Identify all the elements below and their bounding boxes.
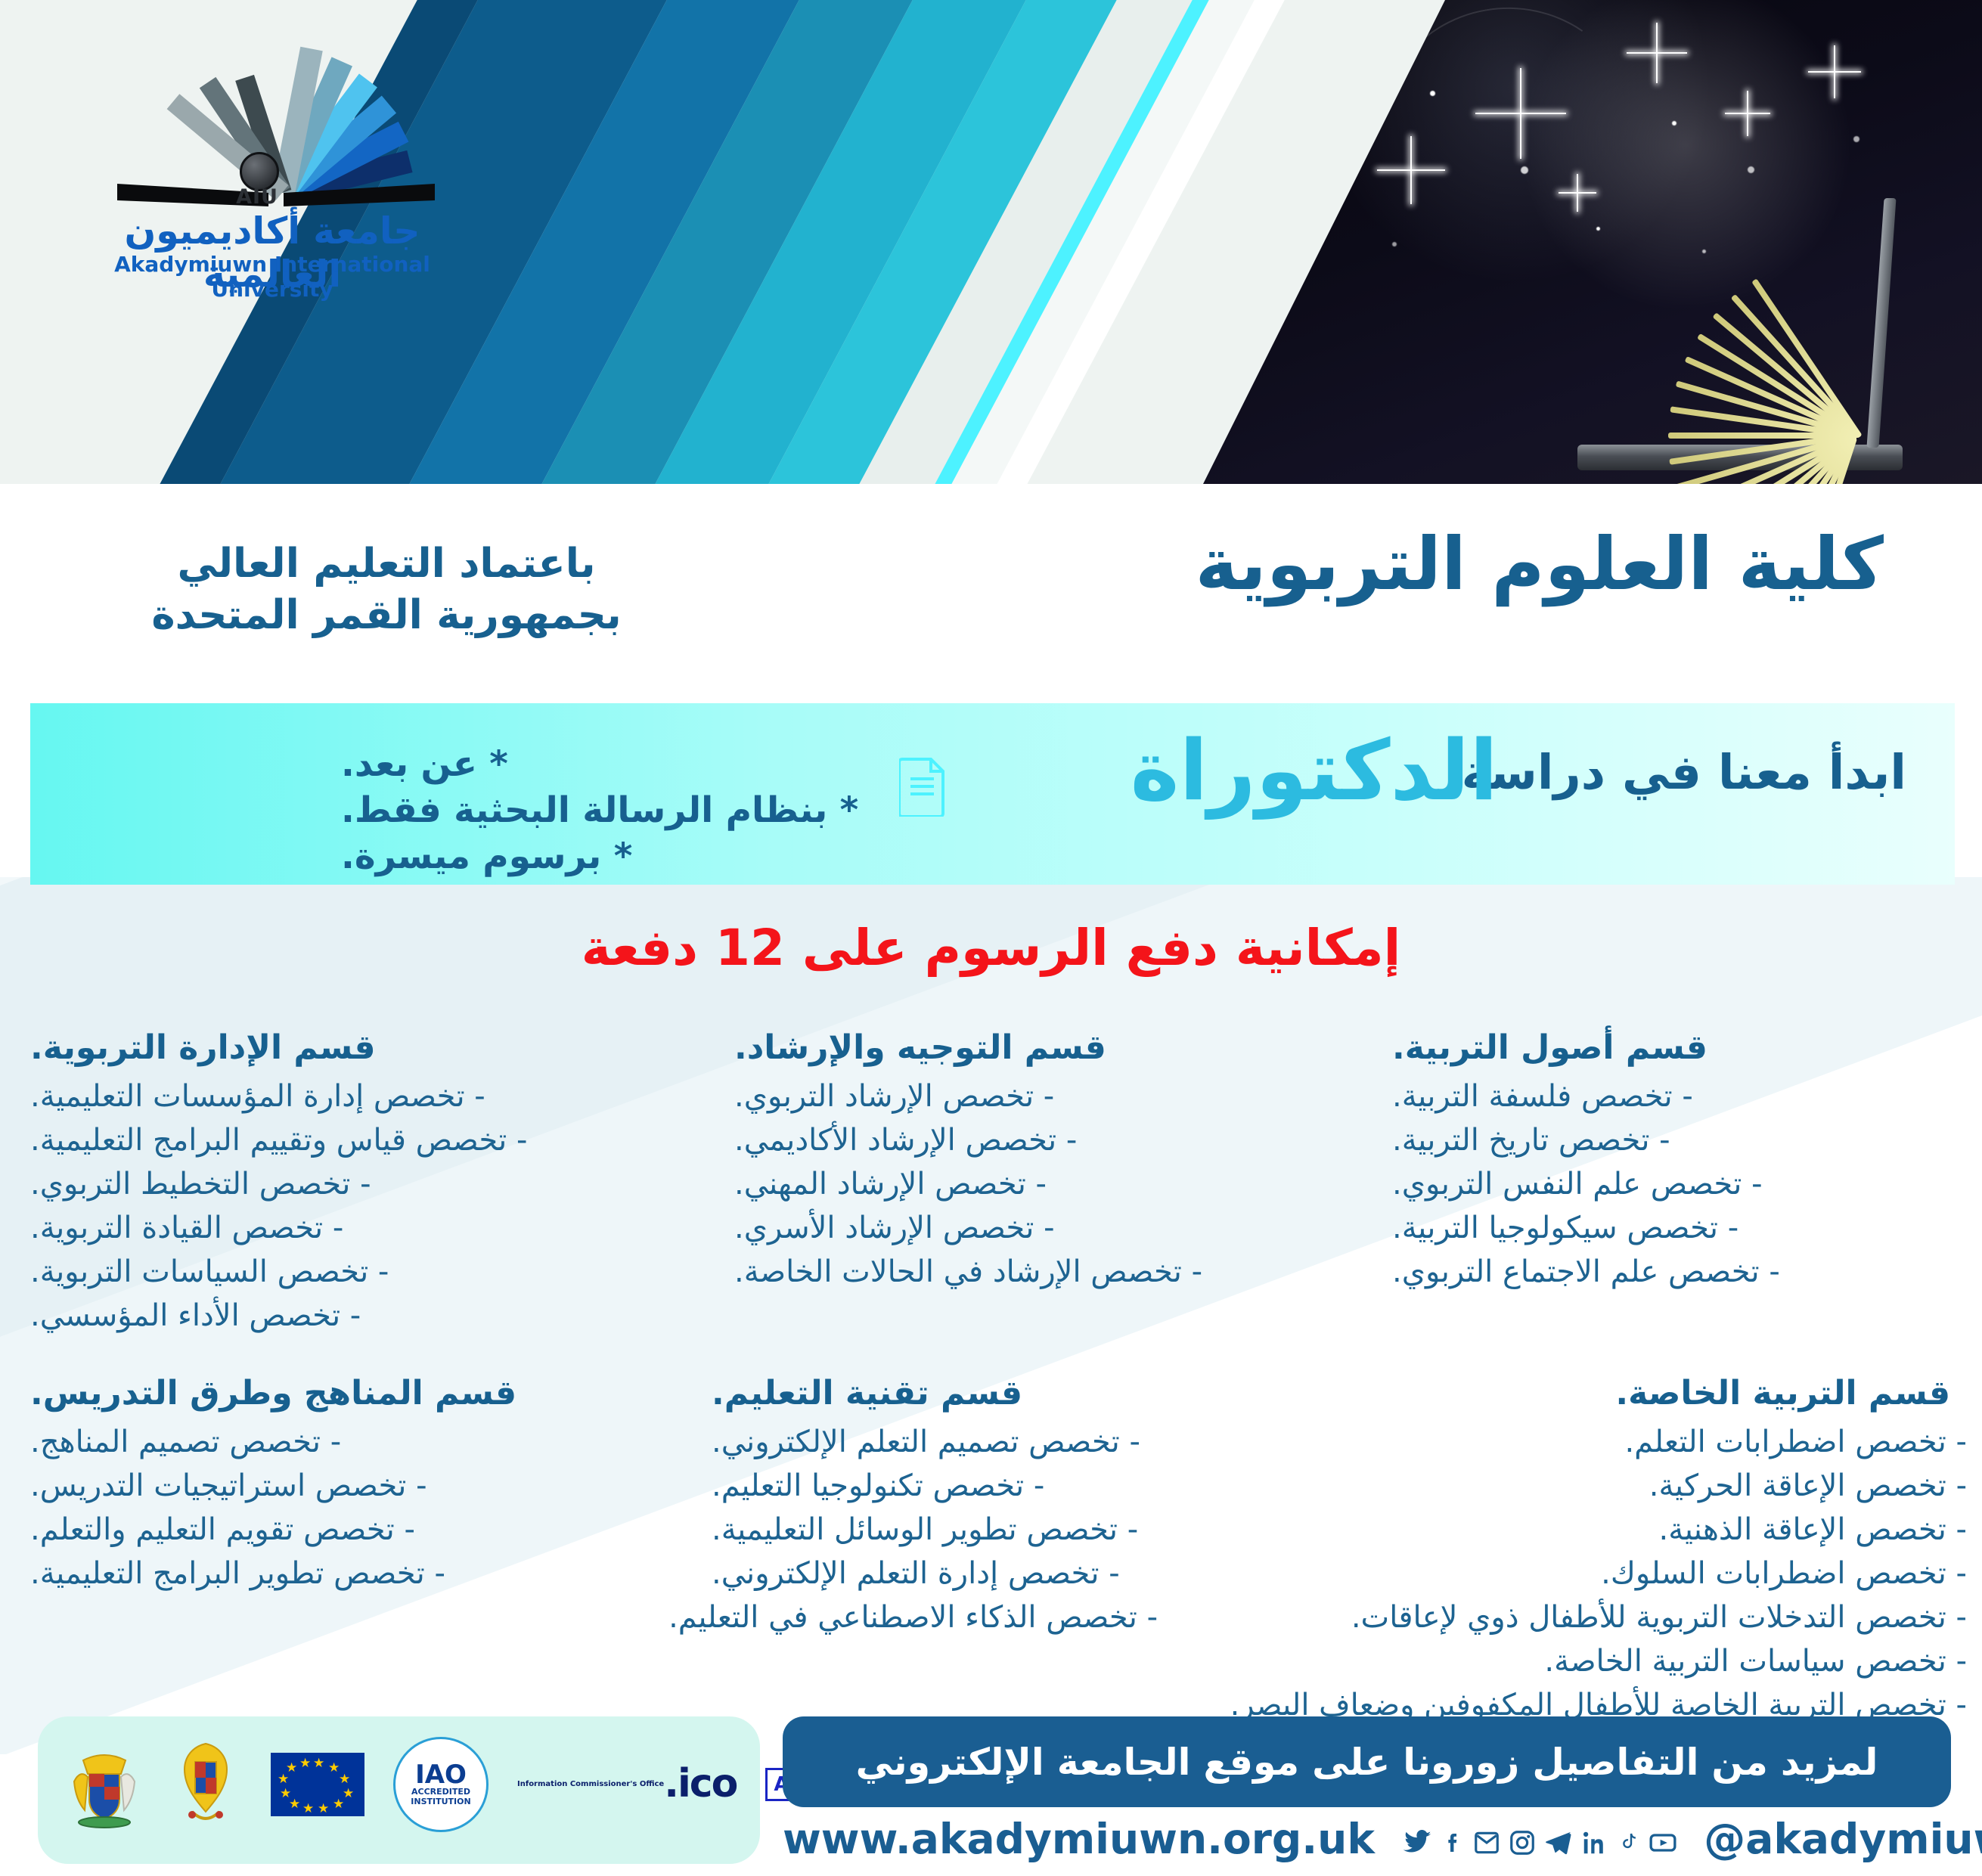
specialization-item: - تخصص التدخلات التربوية للأطفال ذوي لإع… bbox=[1165, 1595, 1967, 1639]
specialization-item: - تخصص تقويم التعليم والتعلم. bbox=[30, 1508, 696, 1552]
cta-banner[interactable]: لمزيد من التفاصيل زورونا على موقع الجامع… bbox=[783, 1716, 1951, 1807]
poster-root: AIU جامعة أكاديميون العالمية Akadymiuwn … bbox=[0, 0, 1982, 1876]
department-administration: قسم الإدارة التربوية. - تخصص إدارة المؤس… bbox=[0, 1028, 734, 1338]
department-specialization-list: - تخصص تصميم المناهج. - تخصص استراتيجيات… bbox=[30, 1420, 696, 1595]
specialization-item: - تخصص الأداء المؤسسي. bbox=[30, 1294, 719, 1338]
department-title: قسم التربية الخاصة. bbox=[1165, 1374, 1967, 1412]
specialization-item: - تخصص تصميم التعلم الإلكتروني. bbox=[712, 1420, 1158, 1464]
feature-item: * برسوم ميسرة. bbox=[341, 833, 886, 879]
department-title: قسم أصول التربية. bbox=[1392, 1028, 1959, 1067]
iao-badge: IAO ACCREDITED INSTITUTION bbox=[393, 1737, 489, 1832]
specialization-item: - تخصص علم الاجتماع التربوي. bbox=[1392, 1250, 1959, 1294]
department-guidance: قسم التوجيه والإرشاد. - تخصص الإرشاد الت… bbox=[734, 1028, 1392, 1338]
youtube-icon[interactable] bbox=[1647, 1828, 1679, 1858]
university-logo: AIU جامعة أكاديميون العالمية Akadymiuwn … bbox=[72, 42, 473, 268]
specialization-item: - تخصص تاريخ التربية. bbox=[1392, 1118, 1959, 1162]
departments-row-2: قسم التربية الخاصة. - تخصص اضطرابات التع… bbox=[0, 1374, 1982, 1727]
department-title: قسم التوجيه والإرشاد. bbox=[734, 1028, 1354, 1067]
iao-label: IAO bbox=[415, 1762, 467, 1788]
department-foundations: قسم أصول التربية. - تخصص فلسفة التربية. … bbox=[1392, 1028, 1982, 1338]
specialization-item: - تخصص الإرشاد الأكاديمي. bbox=[734, 1118, 1354, 1162]
specialization-item: - تخصص إدارة التعلم الإلكتروني. bbox=[712, 1552, 1158, 1595]
degree-name: الدكتوراة bbox=[1131, 722, 1498, 819]
accreditation-note: باعتماد التعليم العالي بجمهورية القمر ال… bbox=[122, 538, 651, 641]
department-education-technology: قسم تقنية التعليم. - تخصص تصميم التعلم ا… bbox=[712, 1374, 1165, 1727]
document-icon bbox=[899, 756, 946, 817]
accreditation-line-2: بجمهورية القمر المتحدة bbox=[122, 590, 651, 641]
feature-item: * بنظام الرسالة البحثية فقط. bbox=[341, 787, 886, 833]
email-icon[interactable] bbox=[1472, 1828, 1501, 1858]
specialization-item: - تخصص استراتيجيات التدريس. bbox=[30, 1464, 696, 1508]
page-title: كلية العلوم التربوية bbox=[1196, 522, 1884, 606]
payment-note: إمكانية دفع الرسوم على 12 دفعة bbox=[0, 919, 1982, 977]
department-specialization-list: - تخصص الإرشاد التربوي. - تخصص الإرشاد ا… bbox=[734, 1074, 1354, 1294]
accreditation-line-1: باعتماد التعليم العالي bbox=[122, 538, 651, 590]
department-specialization-list: - تخصص تصميم التعلم الإلكتروني. - تخصص ت… bbox=[712, 1420, 1158, 1639]
specialization-item: - تخصص الإرشاد الأسري. bbox=[734, 1206, 1354, 1250]
specialization-item: - تخصص سياسات التربية الخاصة. bbox=[1165, 1639, 1967, 1683]
specialization-item: - تخصص الإرشاد التربوي. bbox=[734, 1074, 1354, 1118]
department-special-education: قسم التربية الخاصة. - تخصص اضطرابات التع… bbox=[1165, 1374, 1982, 1727]
specialization-item: - تخصص الإعاقة الحركية. bbox=[1165, 1464, 1967, 1508]
specialization-item: - تخصص تطوير الوسائل التعليمية. bbox=[712, 1508, 1158, 1552]
departments-section: قسم أصول التربية. - تخصص فلسفة التربية. … bbox=[0, 1028, 1982, 1727]
uk-royal-coat-of-arms-badge bbox=[68, 1739, 141, 1830]
specialization-item: - تخصص علم النفس التربوي. bbox=[1392, 1162, 1959, 1206]
specialization-item: - تخصص قياس وتقييم البرامج التعليمية. bbox=[30, 1118, 719, 1162]
specialization-item: - تخصص الإرشاد المهني. bbox=[734, 1162, 1354, 1206]
telegram-icon[interactable] bbox=[1543, 1828, 1574, 1858]
website-link[interactable]: www.akadymiuwn.org.uk bbox=[783, 1815, 1375, 1863]
social-icons bbox=[1400, 1828, 1679, 1858]
cta-label: لمزيد من التفاصيل زورونا على موقع الجامع… bbox=[856, 1741, 1878, 1784]
band-start-text: ابدأ معنا في دراسة bbox=[1462, 745, 1906, 800]
specialization-item: - تخصص الإعاقة الذهنية. bbox=[1165, 1508, 1967, 1552]
specialization-item: - تخصص إدارة المؤسسات التعليمية. bbox=[30, 1074, 719, 1118]
specialization-item: - تخصص الذكاء الاصطناعي في التعليم. bbox=[712, 1595, 1158, 1639]
department-curricula: قسم المناهج وطرق التدريس. - تخصص تصميم ا… bbox=[0, 1374, 712, 1727]
specialization-item: - تخصص الإرشاد في الحالات الخاصة. bbox=[734, 1250, 1354, 1294]
iao-sublabel: ACCREDITED INSTITUTION bbox=[395, 1788, 486, 1806]
twitter-icon[interactable] bbox=[1400, 1828, 1435, 1858]
feature-item: * عن بعد. bbox=[341, 741, 886, 787]
ico-badge: ico. Information Commissioner's Office bbox=[517, 1766, 737, 1803]
logo-english-name: Akadymiuwn International University bbox=[72, 252, 473, 302]
department-title: قسم تقنية التعليم. bbox=[712, 1374, 1158, 1412]
social-handle: @akadymiuwn bbox=[1704, 1815, 1982, 1863]
degree-features-list: * عن بعد. * بنظام الرسالة البحثية فقط. *… bbox=[341, 741, 886, 879]
department-specialization-list: - تخصص إدارة المؤسسات التعليمية. - تخصص … bbox=[30, 1074, 719, 1338]
specialization-item: - تخصص القيادة التربوية. bbox=[30, 1206, 719, 1250]
header-banner: AIU جامعة أكاديميون العالمية Akadymiuwn … bbox=[0, 0, 1982, 484]
logo-monogram: AIU bbox=[227, 185, 287, 209]
facebook-icon[interactable] bbox=[1441, 1828, 1466, 1858]
specialization-item: - تخصص التخطيط التربوي. bbox=[30, 1162, 719, 1206]
specialization-item: - تخصص تطوير البرامج التعليمية. bbox=[30, 1552, 696, 1595]
ico-sublabel: Information Commissioner's Office bbox=[517, 1780, 664, 1788]
eu-flag-badge: ★★ ★★ ★★ ★★ ★★ ★★ bbox=[271, 1753, 364, 1816]
linkedin-icon[interactable] bbox=[1580, 1828, 1609, 1858]
department-title: قسم الإدارة التربوية. bbox=[30, 1028, 719, 1067]
contact-row: www.akadymiuwn.org.uk @akadymiuwn bbox=[783, 1815, 1951, 1863]
specialization-item: - تخصص اضطرابات التعلم. bbox=[1165, 1420, 1967, 1464]
department-title: قسم المناهج وطرق التدريس. bbox=[30, 1374, 696, 1412]
tiktok-icon[interactable] bbox=[1616, 1828, 1640, 1858]
specialization-item: - تخصص تكنولوجيا التعليم. bbox=[712, 1464, 1158, 1508]
romania-coat-of-arms-badge bbox=[169, 1739, 242, 1830]
instagram-icon[interactable] bbox=[1508, 1828, 1537, 1858]
open-book-image bbox=[1487, 159, 1910, 484]
specialization-item: - تخصص تصميم المناهج. bbox=[30, 1420, 696, 1464]
specialization-item: - تخصص فلسفة التربية. bbox=[1392, 1074, 1959, 1118]
departments-row-1: قسم أصول التربية. - تخصص فلسفة التربية. … bbox=[0, 1028, 1982, 1338]
specialization-item: - تخصص السياسات التربوية. bbox=[30, 1250, 719, 1294]
specialization-item: - تخصص اضطرابات السلوك. bbox=[1165, 1552, 1967, 1595]
specialization-item: - تخصص سيكولوجيا التربية. bbox=[1392, 1206, 1959, 1250]
ico-label: ico. bbox=[664, 1766, 737, 1803]
department-specialization-list: - تخصص فلسفة التربية. - تخصص تاريخ الترب… bbox=[1392, 1074, 1959, 1294]
department-specialization-list: - تخصص اضطرابات التعلم. - تخصص الإعاقة ا… bbox=[1165, 1420, 1967, 1727]
